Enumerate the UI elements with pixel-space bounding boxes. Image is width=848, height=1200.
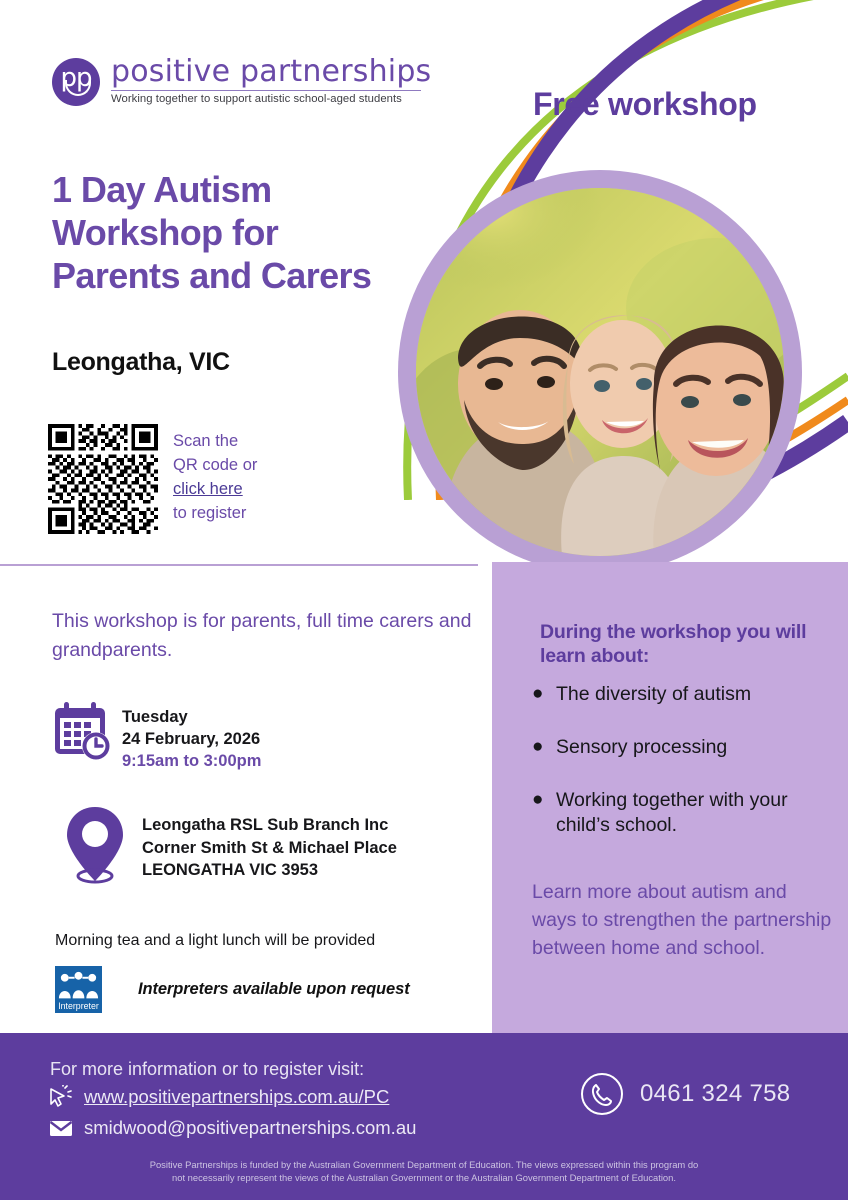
footer-phone-row[interactable]: 0461 324 758 <box>580 1072 790 1116</box>
family-photo-illustration <box>416 188 784 556</box>
venue-block: Leongatha RSL Sub Branch Inc Corner Smit… <box>52 805 397 882</box>
qr-instructions: Scan the QR code or click here to regist… <box>173 429 257 525</box>
learning-outcomes-panel: During the workshop you will learn about… <box>492 562 848 1034</box>
poster-root: pp positive partnerships Working togethe… <box>0 0 848 1200</box>
list-item-label: The diversity of autism <box>556 682 751 707</box>
date-time: 9:15am to 3:00pm <box>122 750 261 772</box>
footer-email-link[interactable]: smidwood@positivepartnerships.com.au <box>84 1117 416 1139</box>
page-title: 1 Day Autism Workshop for Parents and Ca… <box>52 168 412 297</box>
logo-text-block: positive partnerships Working together t… <box>111 56 431 106</box>
phone-icon <box>580 1072 624 1116</box>
hero-photo-ring <box>398 170 802 574</box>
interpreter-block: Interpreter Interpreters available upon … <box>55 966 410 1013</box>
logo-mark-icon: pp <box>52 58 100 106</box>
catering-note: Morning tea and a light lunch will be pr… <box>55 930 375 952</box>
list-item-label: Sensory processing <box>556 735 727 760</box>
free-workshop-label: Free workshop <box>533 86 757 123</box>
hero-photo <box>416 188 784 556</box>
venue-text: Leongatha RSL Sub Branch Inc Corner Smit… <box>142 805 397 882</box>
logo-tagline: Working together to support autistic sch… <box>111 93 431 106</box>
footer: For more information or to register visi… <box>0 1033 848 1200</box>
qr-code[interactable] <box>48 424 158 534</box>
envelope-icon <box>46 1116 76 1140</box>
logo-wordmark: positive partnerships <box>111 56 431 88</box>
list-item: ● The diversity of autism <box>532 682 832 707</box>
date-day: Tuesday <box>122 706 261 728</box>
disclaimer-line-2: not necessarily represent the views of t… <box>0 1171 848 1184</box>
bullet-dot-icon: ● <box>532 682 556 707</box>
panel-heading: During the workshop you will learn about… <box>540 620 830 668</box>
map-pin-icon <box>64 805 126 887</box>
outcomes-list: ● The diversity of autism ● Sensory proc… <box>532 682 832 866</box>
page-subtitle-location: Leongatha, VIC <box>52 348 230 377</box>
disclaimer-line-1: Positive Partnerships is funded by the A… <box>0 1158 848 1171</box>
venue-line-1: Leongatha RSL Sub Branch Inc <box>142 814 397 837</box>
date-full: 24 February, 2026 <box>122 728 261 750</box>
date-block: Tuesday 24 February, 2026 9:15am to 3:00… <box>52 700 261 772</box>
qr-line-2: QR code or <box>173 453 257 477</box>
venue-line-2: Corner Smith St & Michael Place <box>142 837 397 860</box>
footer-email-row[interactable]: smidwood@positivepartnerships.com.au <box>46 1116 416 1140</box>
brand-logo[interactable]: pp positive partnerships Working togethe… <box>52 56 431 106</box>
qr-code-icon[interactable] <box>48 424 158 534</box>
section-divider <box>0 564 478 566</box>
click-cursor-icon <box>46 1085 76 1109</box>
footer-website-row[interactable]: www.positivepartnerships.com.au/PC <box>46 1085 389 1109</box>
calendar-clock-icon <box>52 700 112 762</box>
footer-disclaimer: Positive Partnerships is funded by the A… <box>0 1158 848 1184</box>
footer-website-link[interactable]: www.positivepartnerships.com.au/PC <box>84 1086 389 1108</box>
qr-line-4: to register <box>173 501 257 525</box>
venue-line-3: LEONGATHA VIC 3953 <box>142 859 397 882</box>
interpreter-icon-label: Interpreter <box>58 1001 99 1011</box>
click-here-link[interactable]: click here <box>173 477 257 501</box>
bullet-dot-icon: ● <box>532 735 556 760</box>
interpreter-icon: Interpreter <box>55 966 102 1013</box>
qr-line-1: Scan the <box>173 429 257 453</box>
list-item: ● Working together with your child’s sch… <box>532 788 832 838</box>
logo-smile-icon <box>65 80 91 96</box>
footer-phone-number[interactable]: 0461 324 758 <box>640 1080 790 1108</box>
list-item-label: Working together with your child’s schoo… <box>556 788 832 838</box>
audience-intro: This workshop is for parents, full time … <box>52 607 472 665</box>
learn-more-text: Learn more about autism and ways to stre… <box>532 878 832 962</box>
footer-heading: For more information or to register visi… <box>50 1059 364 1080</box>
logo-divider <box>111 90 421 91</box>
bullet-dot-icon: ● <box>532 788 556 838</box>
date-text: Tuesday 24 February, 2026 9:15am to 3:00… <box>122 700 261 772</box>
interpreter-note: Interpreters available upon request <box>138 980 410 999</box>
list-item: ● Sensory processing <box>532 735 832 760</box>
